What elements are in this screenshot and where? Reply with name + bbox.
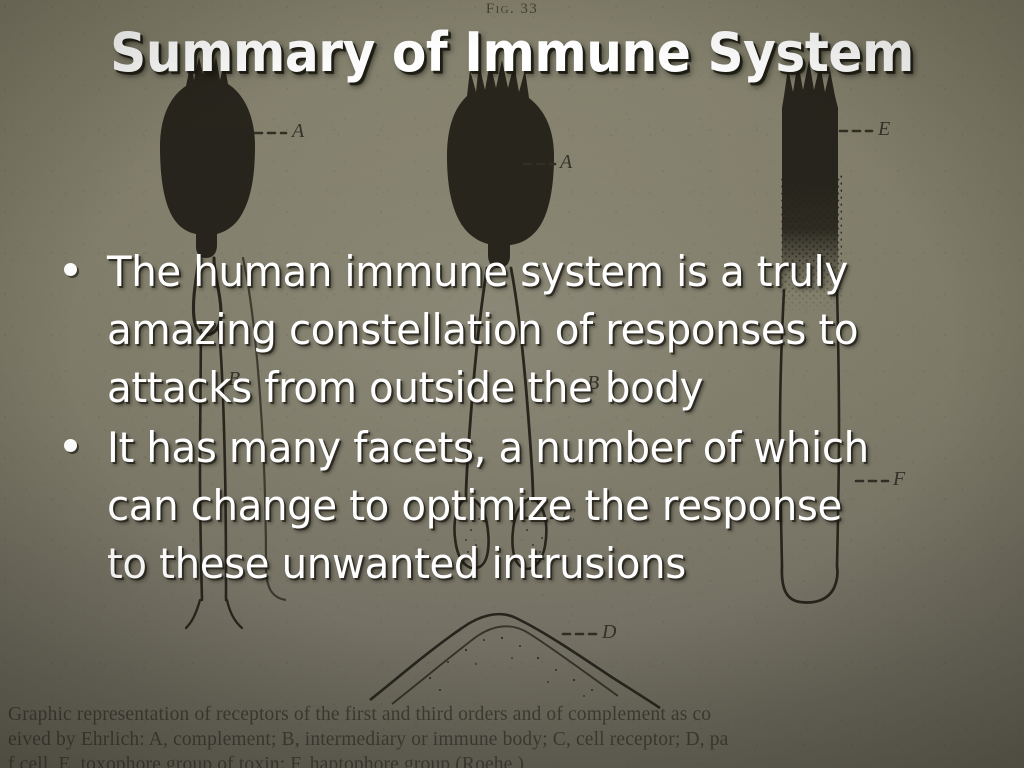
bullet-text: The human immune system is a truly amazi… bbox=[107, 243, 875, 417]
bullet-dot-icon bbox=[64, 263, 77, 276]
figure-number-caption: Fig. 33 bbox=[0, 1, 1024, 18]
bullet-dot-icon bbox=[64, 439, 77, 452]
diagram-label-a-mid: A bbox=[560, 151, 572, 174]
caption-line-1: Graphic representation of receptors of t… bbox=[8, 702, 1024, 727]
diagram-label-d: D bbox=[602, 621, 616, 644]
caption-line-2: eived by Ehrlich: A, complement; B, inte… bbox=[8, 727, 1024, 752]
bullet-list: The human immune system is a truly amazi… bbox=[56, 243, 956, 595]
caption-line-3: f cell. E, toxophore group of toxin; F, … bbox=[8, 752, 1024, 768]
list-item: The human immune system is a truly amazi… bbox=[56, 243, 956, 417]
bullet-text: It has many facets, a number of which ca… bbox=[107, 419, 875, 593]
slide-canvas: Fig. 33 A A E B B F C D Graphic represen… bbox=[0, 0, 1024, 768]
diagram-label-e: E bbox=[878, 118, 890, 141]
list-item: It has many facets, a number of which ca… bbox=[56, 419, 956, 593]
diagram-label-a-left: A bbox=[292, 120, 304, 143]
page-title: Summary of Immune System bbox=[36, 22, 988, 84]
figure-caption-text: Graphic representation of receptors of t… bbox=[8, 702, 1024, 768]
